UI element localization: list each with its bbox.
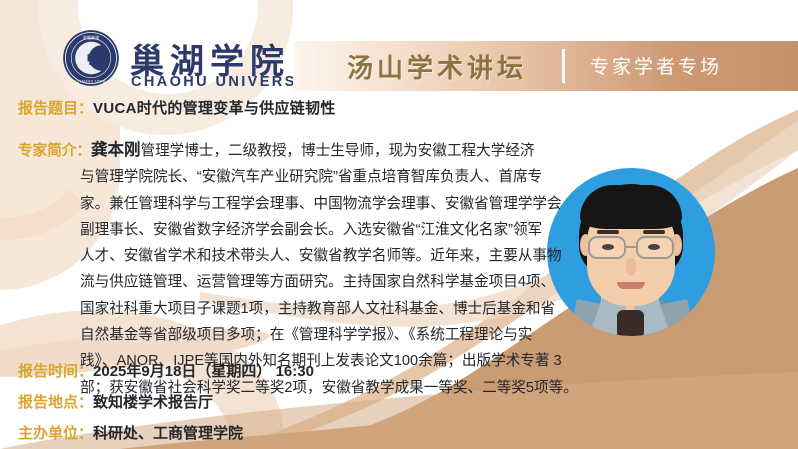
meta-label-location: 报告地点： xyxy=(18,394,93,411)
expert-bio-text: 流与供应链管理、运营管理等方面研究。主持国家自然科学基金项目4项、 xyxy=(80,274,555,290)
expert-bio-line: 自然基金等省部级项目多项；在《管理科学学报》、《系统工程理论与实 xyxy=(18,322,578,348)
portrait-fringe xyxy=(580,185,682,229)
portrait-lens-right xyxy=(636,236,674,259)
meta-row-organizer: 主办单位：科研处、工商管理学院 xyxy=(18,418,314,449)
banner-sub-title: 专家学者专场 xyxy=(590,52,722,79)
expert-bio-line: 副理事长、安徽省数字经济学会副会长。入选安徽省“江淮文化名家”领军 xyxy=(18,217,578,243)
expert-bio-line: 与管理学院院长、“安徽汽车产业研究院”省重点培育智库负责人、首席专 xyxy=(18,164,578,190)
portrait-eyebrow-right xyxy=(643,230,665,234)
portrait-glasses-bridge xyxy=(626,246,636,248)
expert-bio-line: 人才、安徽省学术和技术带头人、安徽省教学名师等。近年来，主要从事物 xyxy=(18,243,578,269)
portrait-mouth xyxy=(617,282,645,289)
expert-bio-text: 人才、安徽省学术和技术带头人、安徽省教学名师等。近年来，主要从事物 xyxy=(80,248,562,264)
meta-row-location: 报告地点：致知楼学术报告厅 xyxy=(18,387,314,418)
expert-bio-line: 国家社科重大项目子课题1项，主持教育部人文社科基金、博士后基金和省 xyxy=(18,296,578,322)
expert-bio-text: 自然基金等省部级项目多项；在《管理科学学报》、《系统工程理论与实 xyxy=(80,327,532,343)
expert-name: 龚本刚 xyxy=(91,141,141,159)
expert-bio-text: 副理事长、安徽省数字经济学会副会长。入选安徽省“江淮文化名家”领军 xyxy=(80,222,542,238)
meta-row-time: 报告时间：2025年9月18日（星期四） 16:30 xyxy=(18,356,314,387)
report-title-label: 报告题目： xyxy=(18,100,93,117)
meta-value-time: 2025年9月18日（星期四） 16:30 xyxy=(93,363,314,380)
portrait-tie xyxy=(617,310,644,336)
expert-bio-label: 专家简介： xyxy=(18,143,91,159)
portrait-nose xyxy=(626,258,636,276)
meta-label-time: 报告时间： xyxy=(18,363,93,380)
svg-text:CHAOHU UNIV.: CHAOHU UNIV. xyxy=(75,79,106,83)
svg-text:安徽巢湖: 安徽巢湖 xyxy=(83,34,99,40)
banner-divider xyxy=(562,49,565,83)
expert-bio-line: 家。兼任管理科学与工程学会理事、中国物流学会理事、安徽省管理学学会 xyxy=(18,191,578,217)
lecture-meta: 报告时间：2025年9月18日（星期四） 16:30 报告地点：致知楼学术报告厅… xyxy=(18,356,314,449)
expert-bio-text: 国家社科重大项目子课题1项，主持教育部人文社科基金、博士后基金和省 xyxy=(80,301,555,317)
portrait-eyebrow-left xyxy=(597,230,619,234)
meta-label-organizer: 主办单位： xyxy=(18,425,93,442)
report-title-row: 报告题目：VUCA时代的管理变革与供应链韧性 xyxy=(18,97,336,118)
expert-bio-text: 管理学博士，二级教授，博士生导师，现为安徽工程大学经济 xyxy=(140,143,534,159)
expert-bio-text: 家。兼任管理科学与工程学会理事、中国物流学会理事、安徽省管理学学会 xyxy=(80,196,562,212)
portrait-lens-left xyxy=(588,236,626,259)
portrait-glasses-icon xyxy=(585,236,677,260)
lecture-poster: 安徽巢湖 CHAOHU UNIV. 巢湖学院 CHAOHU UNIVERSITY… xyxy=(0,0,798,449)
expert-bio-line: 专家简介：龚本刚管理学博士，二级教授，博士生导师，现为安徽工程大学经济 xyxy=(18,137,578,164)
expert-bio-line: 流与供应链管理、运营管理等方面研究。主持国家自然科学基金项目4项、 xyxy=(18,269,578,295)
expert-bio-text: 与管理学院院长、“安徽汽车产业研究院”省重点培育智库负责人、首席专 xyxy=(80,169,542,185)
meta-value-location: 致知楼学术报告厅 xyxy=(93,394,213,411)
report-title-value: VUCA时代的管理变革与供应链韧性 xyxy=(93,100,336,117)
banner-main-title: 汤山学术讲坛 xyxy=(347,48,527,85)
chaohu-university-emblem-icon: 安徽巢湖 CHAOHU UNIV. xyxy=(62,29,120,87)
meta-value-organizer: 科研处、工商管理学院 xyxy=(93,425,243,442)
